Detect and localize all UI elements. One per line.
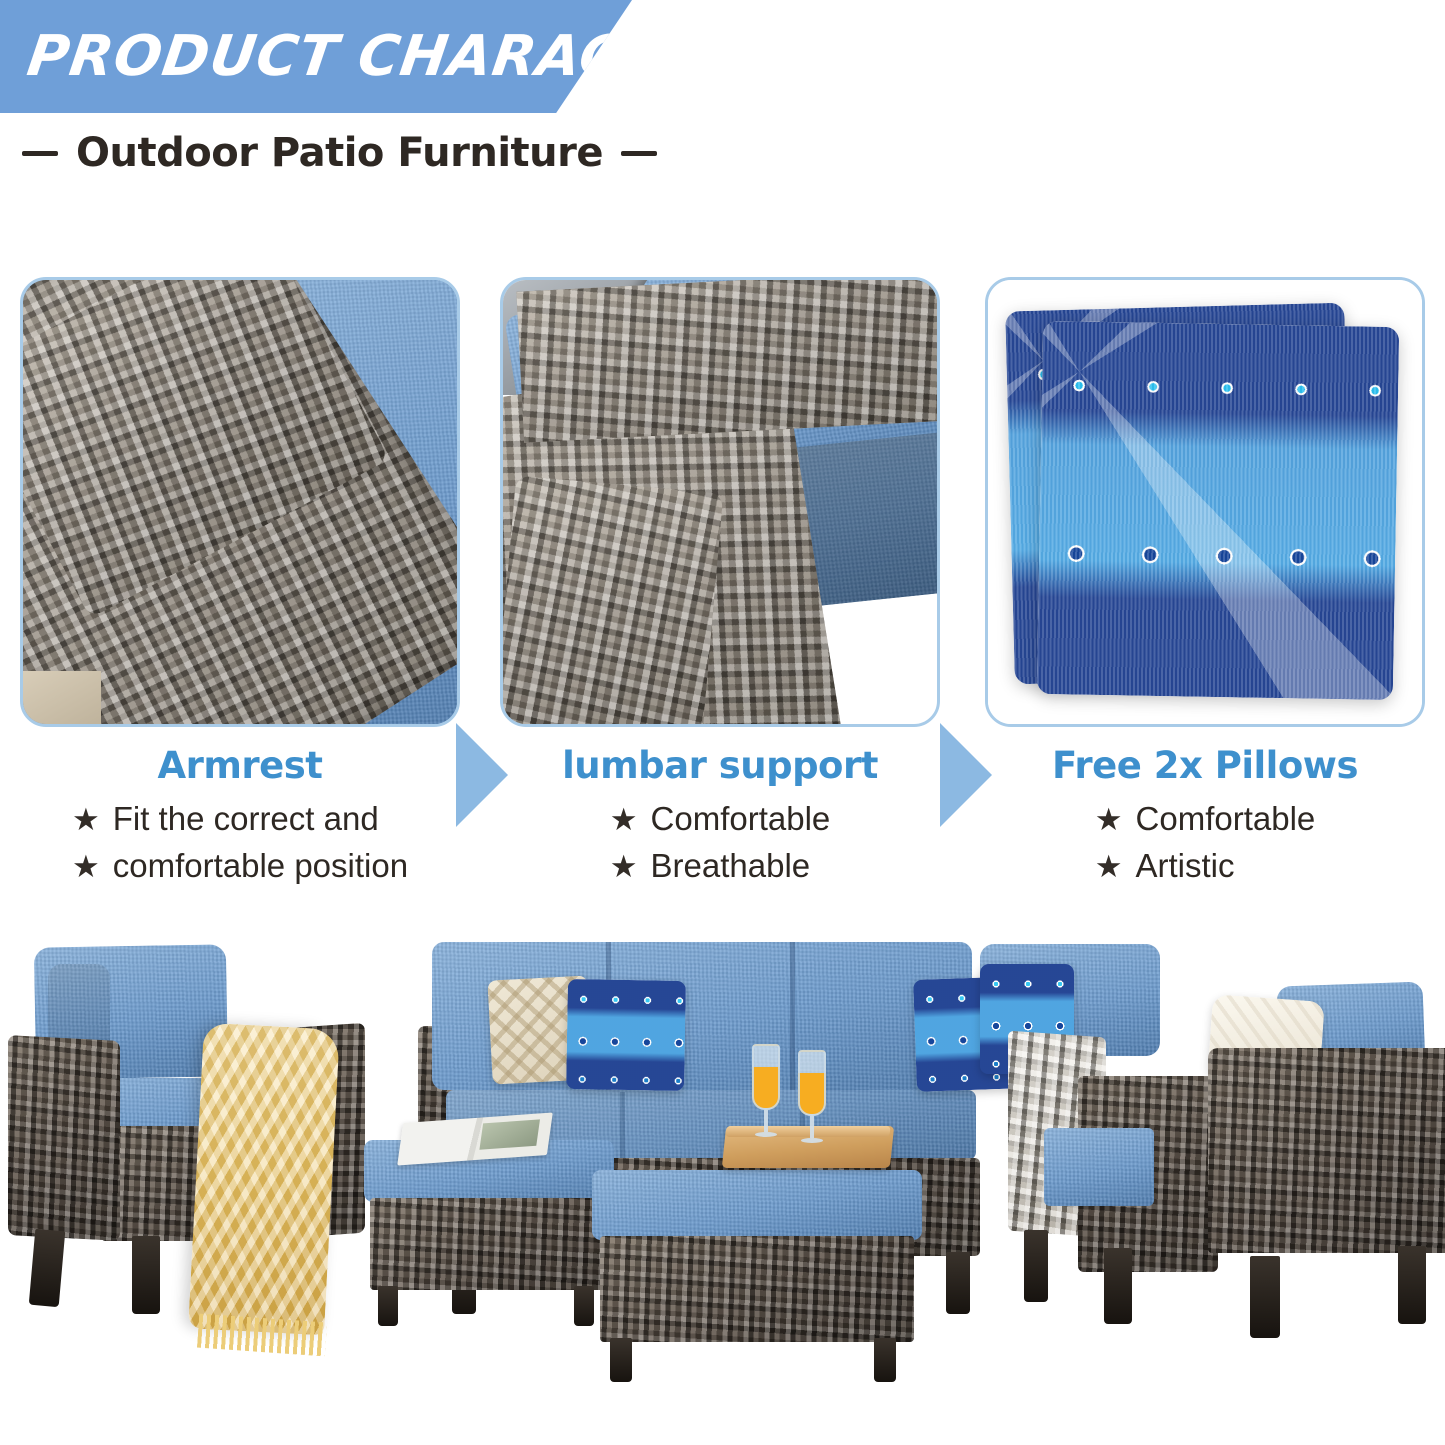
left-armchair-arm-left bbox=[8, 1035, 120, 1241]
feature-captions: Armrest ★ Fit the correct and ★ comforta… bbox=[0, 745, 1445, 905]
right-armchair-seat-cushion bbox=[1044, 1128, 1154, 1206]
feature-panel-row bbox=[0, 277, 1445, 727]
caption-title-free-pillows: Free 2x Pillows bbox=[985, 745, 1425, 786]
sofa-seat-seam bbox=[620, 1092, 625, 1158]
caption-bullets-lumbar-support: ★ Comfortable ★ Breathable bbox=[610, 796, 831, 890]
left-dash-icon bbox=[22, 151, 58, 156]
juice-glass-left bbox=[752, 1044, 780, 1140]
caption-bullets-free-pillows: ★ Comfortable ★ Artistic bbox=[1095, 796, 1316, 890]
caption-lumbar-support: lumbar support ★ Comfortable ★ Breathabl… bbox=[500, 745, 940, 890]
list-item-label: Comfortable bbox=[1136, 796, 1316, 843]
armrest-photo bbox=[23, 280, 457, 724]
list-item: ★ comfortable position bbox=[72, 843, 408, 890]
page-subtitle: Outdoor Patio Furniture bbox=[76, 130, 603, 176]
right-dash-icon bbox=[621, 151, 657, 156]
feature-panel-lumbar-support bbox=[500, 277, 940, 727]
ottoman-2-leg-right bbox=[874, 1338, 896, 1382]
caption-free-pillows: Free 2x Pillows ★ Comfortable ★ Artistic bbox=[985, 745, 1425, 890]
list-item: ★ Comfortable bbox=[1095, 796, 1316, 843]
feature-panel-armrest bbox=[20, 277, 460, 727]
list-item-label: Artistic bbox=[1136, 843, 1235, 890]
caption-title-lumbar-support: lumbar support bbox=[500, 745, 940, 786]
subtitle-row: Outdoor Patio Furniture bbox=[22, 125, 657, 181]
left-armchair-leg-front-right bbox=[132, 1236, 160, 1314]
lumbar-wicker-right bbox=[503, 476, 724, 724]
pillows-photo bbox=[988, 280, 1422, 724]
hero-product-photo bbox=[0, 930, 1445, 1445]
caption-armrest: Armrest ★ Fit the correct and ★ comforta… bbox=[20, 745, 460, 890]
right-armchair-back-panel bbox=[1208, 1048, 1445, 1253]
ottoman-1-frame bbox=[370, 1198, 608, 1290]
feature-panel-free-pillows bbox=[985, 277, 1425, 727]
star-icon: ★ bbox=[610, 804, 638, 835]
page-title: PRODUCT CHARACTER bbox=[23, 24, 748, 89]
caption-title-armrest: Armrest bbox=[20, 745, 460, 786]
star-icon: ★ bbox=[72, 804, 100, 835]
list-item: ★ Breathable bbox=[610, 843, 831, 890]
ikat-pillow-front bbox=[1037, 321, 1399, 700]
list-item: ★ Comfortable bbox=[610, 796, 831, 843]
left-armchair-leg-front-left bbox=[29, 1229, 66, 1307]
right-armchair-leg-right bbox=[1398, 1246, 1426, 1324]
ottoman-1-leg-right bbox=[574, 1286, 594, 1326]
list-item-label: Fit the correct and bbox=[113, 796, 379, 843]
accent-pillow-ikat-left bbox=[566, 979, 686, 1091]
caption-bullets-armrest: ★ Fit the correct and ★ comfortable posi… bbox=[72, 796, 408, 890]
lumbar-support-photo bbox=[503, 280, 937, 724]
right-armchair-leg-front bbox=[1250, 1256, 1280, 1338]
list-item: ★ Fit the correct and bbox=[72, 796, 408, 843]
lumbar-wicker-bottom bbox=[517, 280, 937, 443]
juice-glass-right bbox=[798, 1050, 826, 1146]
ottoman-2-leg-left bbox=[610, 1338, 632, 1382]
ottoman-2-frame bbox=[600, 1236, 914, 1342]
sofa-back-seam bbox=[790, 942, 795, 1090]
list-item: ★ Artistic bbox=[1095, 843, 1316, 890]
star-icon: ★ bbox=[72, 851, 100, 882]
star-icon: ★ bbox=[1095, 851, 1123, 882]
armrest-floor bbox=[23, 671, 101, 724]
far-chair-leg bbox=[1024, 1230, 1048, 1302]
right-armchair-leg-left bbox=[1104, 1248, 1132, 1324]
star-icon: ★ bbox=[610, 851, 638, 882]
list-item-label: Comfortable bbox=[651, 796, 831, 843]
list-item-label: comfortable position bbox=[113, 843, 408, 890]
list-item-label: Breathable bbox=[651, 843, 811, 890]
star-icon: ★ bbox=[1095, 804, 1123, 835]
ottoman-2-cushion bbox=[592, 1170, 922, 1240]
ottoman-1-leg-left bbox=[378, 1286, 398, 1326]
sofa-leg-right bbox=[946, 1252, 970, 1314]
header-banner: PRODUCT CHARACTER bbox=[0, 0, 632, 113]
ottoman-with-tray bbox=[592, 1170, 922, 1342]
yellow-throw-blanket bbox=[188, 1023, 340, 1336]
